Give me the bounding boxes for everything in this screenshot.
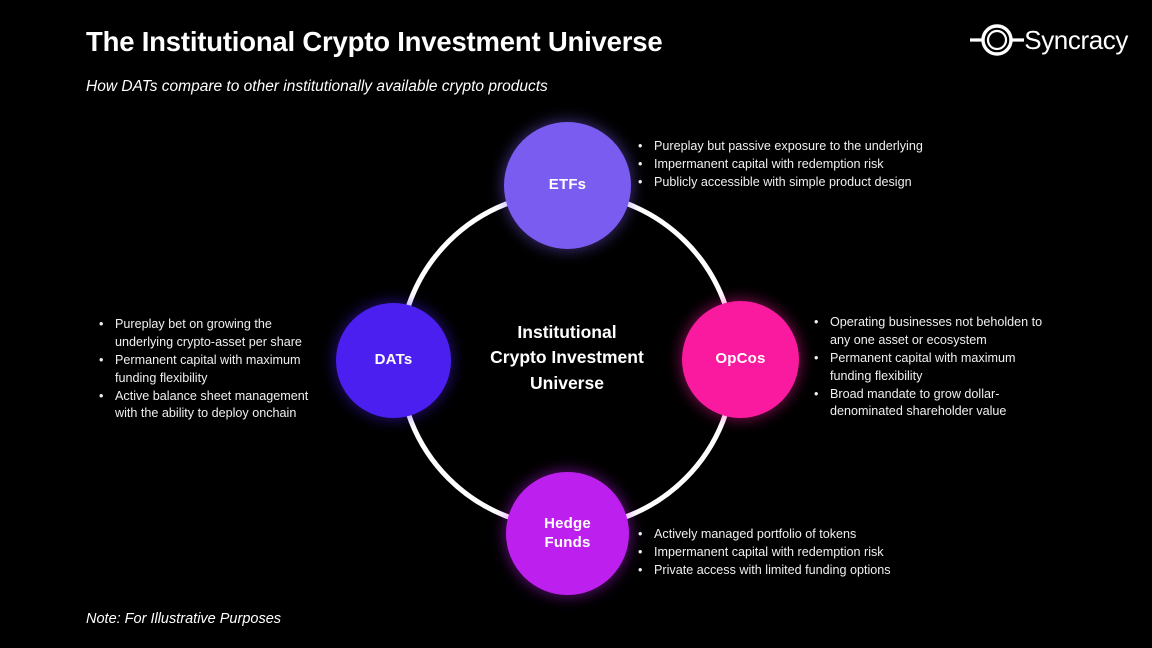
- bullet-item: •Permanent capital with maximum funding …: [99, 352, 327, 388]
- bullet-item: •Permanent capital with maximum funding …: [814, 350, 1054, 386]
- node-dats[interactable]: DATs: [336, 303, 451, 418]
- syncracy-logo: Syncracy: [968, 20, 1128, 60]
- bullet-list-hedge-funds: •Actively managed portfolio of tokens•Im…: [638, 526, 958, 580]
- bullet-dot-icon: •: [814, 386, 830, 404]
- bullet-dot-icon: •: [99, 388, 115, 406]
- bullet-dot-icon: •: [638, 562, 654, 580]
- bullet-item: •Impermanent capital with redemption ris…: [638, 156, 968, 174]
- bullet-dot-icon: •: [638, 138, 654, 156]
- cycle-ring: [397, 190, 737, 530]
- bullet-dot-icon: •: [638, 174, 654, 192]
- logo-wordmark: Syncracy: [1024, 27, 1128, 53]
- bullet-item: •Pureplay bet on growing the underlying …: [99, 316, 327, 352]
- bullet-dot-icon: •: [638, 544, 654, 562]
- bullet-dot-icon: •: [638, 156, 654, 174]
- bullet-item: •Active balance sheet management with th…: [99, 388, 327, 424]
- page-subtitle: How DATs compare to other institutionall…: [86, 78, 548, 96]
- node-etfs[interactable]: ETFs: [504, 122, 631, 249]
- bullet-text: Pureplay bet on growing the underlying c…: [115, 316, 327, 352]
- bullet-text: Operating businesses not beholden to any…: [830, 314, 1054, 350]
- bullet-item: •Publicly accessible with simple product…: [638, 174, 968, 192]
- bullet-text: Impermanent capital with redemption risk: [654, 544, 958, 562]
- bullet-dot-icon: •: [814, 314, 830, 332]
- bullet-list-etfs: •Pureplay but passive exposure to the un…: [638, 138, 968, 192]
- node-opcos[interactable]: OpCos: [682, 301, 799, 418]
- bullet-dot-icon: •: [99, 352, 115, 370]
- node-opcos-label: OpCos: [715, 350, 765, 369]
- bullet-text: Permanent capital with maximum funding f…: [115, 352, 327, 388]
- bullet-dot-icon: •: [814, 350, 830, 368]
- bullet-text: Impermanent capital with redemption risk: [654, 156, 968, 174]
- diagram-center-label: Institutional Crypto Investment Universe: [467, 320, 667, 396]
- bullet-text: Actively managed portfolio of tokens: [654, 526, 958, 544]
- bullet-list-opcos: •Operating businesses not beholden to an…: [814, 314, 1054, 421]
- bullet-text: Pureplay but passive exposure to the und…: [654, 138, 968, 156]
- page-title: The Institutional Crypto Investment Univ…: [86, 26, 662, 58]
- bullet-text: Broad mandate to grow dollar-denominated…: [830, 386, 1054, 422]
- bullet-item: •Impermanent capital with redemption ris…: [638, 544, 958, 562]
- bullet-list-dats: •Pureplay bet on growing the underlying …: [99, 316, 327, 423]
- bullet-text: Permanent capital with maximum funding f…: [830, 350, 1054, 386]
- bullet-text: Active balance sheet management with the…: [115, 388, 327, 424]
- slide-canvas: The Institutional Crypto Investment Univ…: [0, 0, 1152, 648]
- bullet-item: •Private access with limited funding opt…: [638, 562, 958, 580]
- bullet-dot-icon: •: [99, 316, 115, 334]
- bullet-text: Private access with limited funding opti…: [654, 562, 958, 580]
- bullet-item: •Actively managed portfolio of tokens: [638, 526, 958, 544]
- node-dats-label: DATs: [375, 351, 413, 370]
- node-hedge-funds[interactable]: Hedge Funds: [506, 472, 629, 595]
- bullet-item: •Operating businesses not beholden to an…: [814, 314, 1054, 350]
- bullet-item: •Broad mandate to grow dollar-denominate…: [814, 386, 1054, 422]
- node-etfs-label: ETFs: [549, 176, 586, 195]
- bullet-item: •Pureplay but passive exposure to the un…: [638, 138, 968, 156]
- node-hedge-funds-label: Hedge Funds: [544, 515, 591, 553]
- syncracy-eclipse-icon: [968, 20, 1026, 60]
- bullet-text: Publicly accessible with simple product …: [654, 174, 968, 192]
- footer-note: Note: For Illustrative Purposes: [86, 611, 281, 627]
- bullet-dot-icon: •: [638, 526, 654, 544]
- crypto-universe-diagram: ETFs DATs OpCos Hedge Funds Institutiona…: [0, 0, 1152, 648]
